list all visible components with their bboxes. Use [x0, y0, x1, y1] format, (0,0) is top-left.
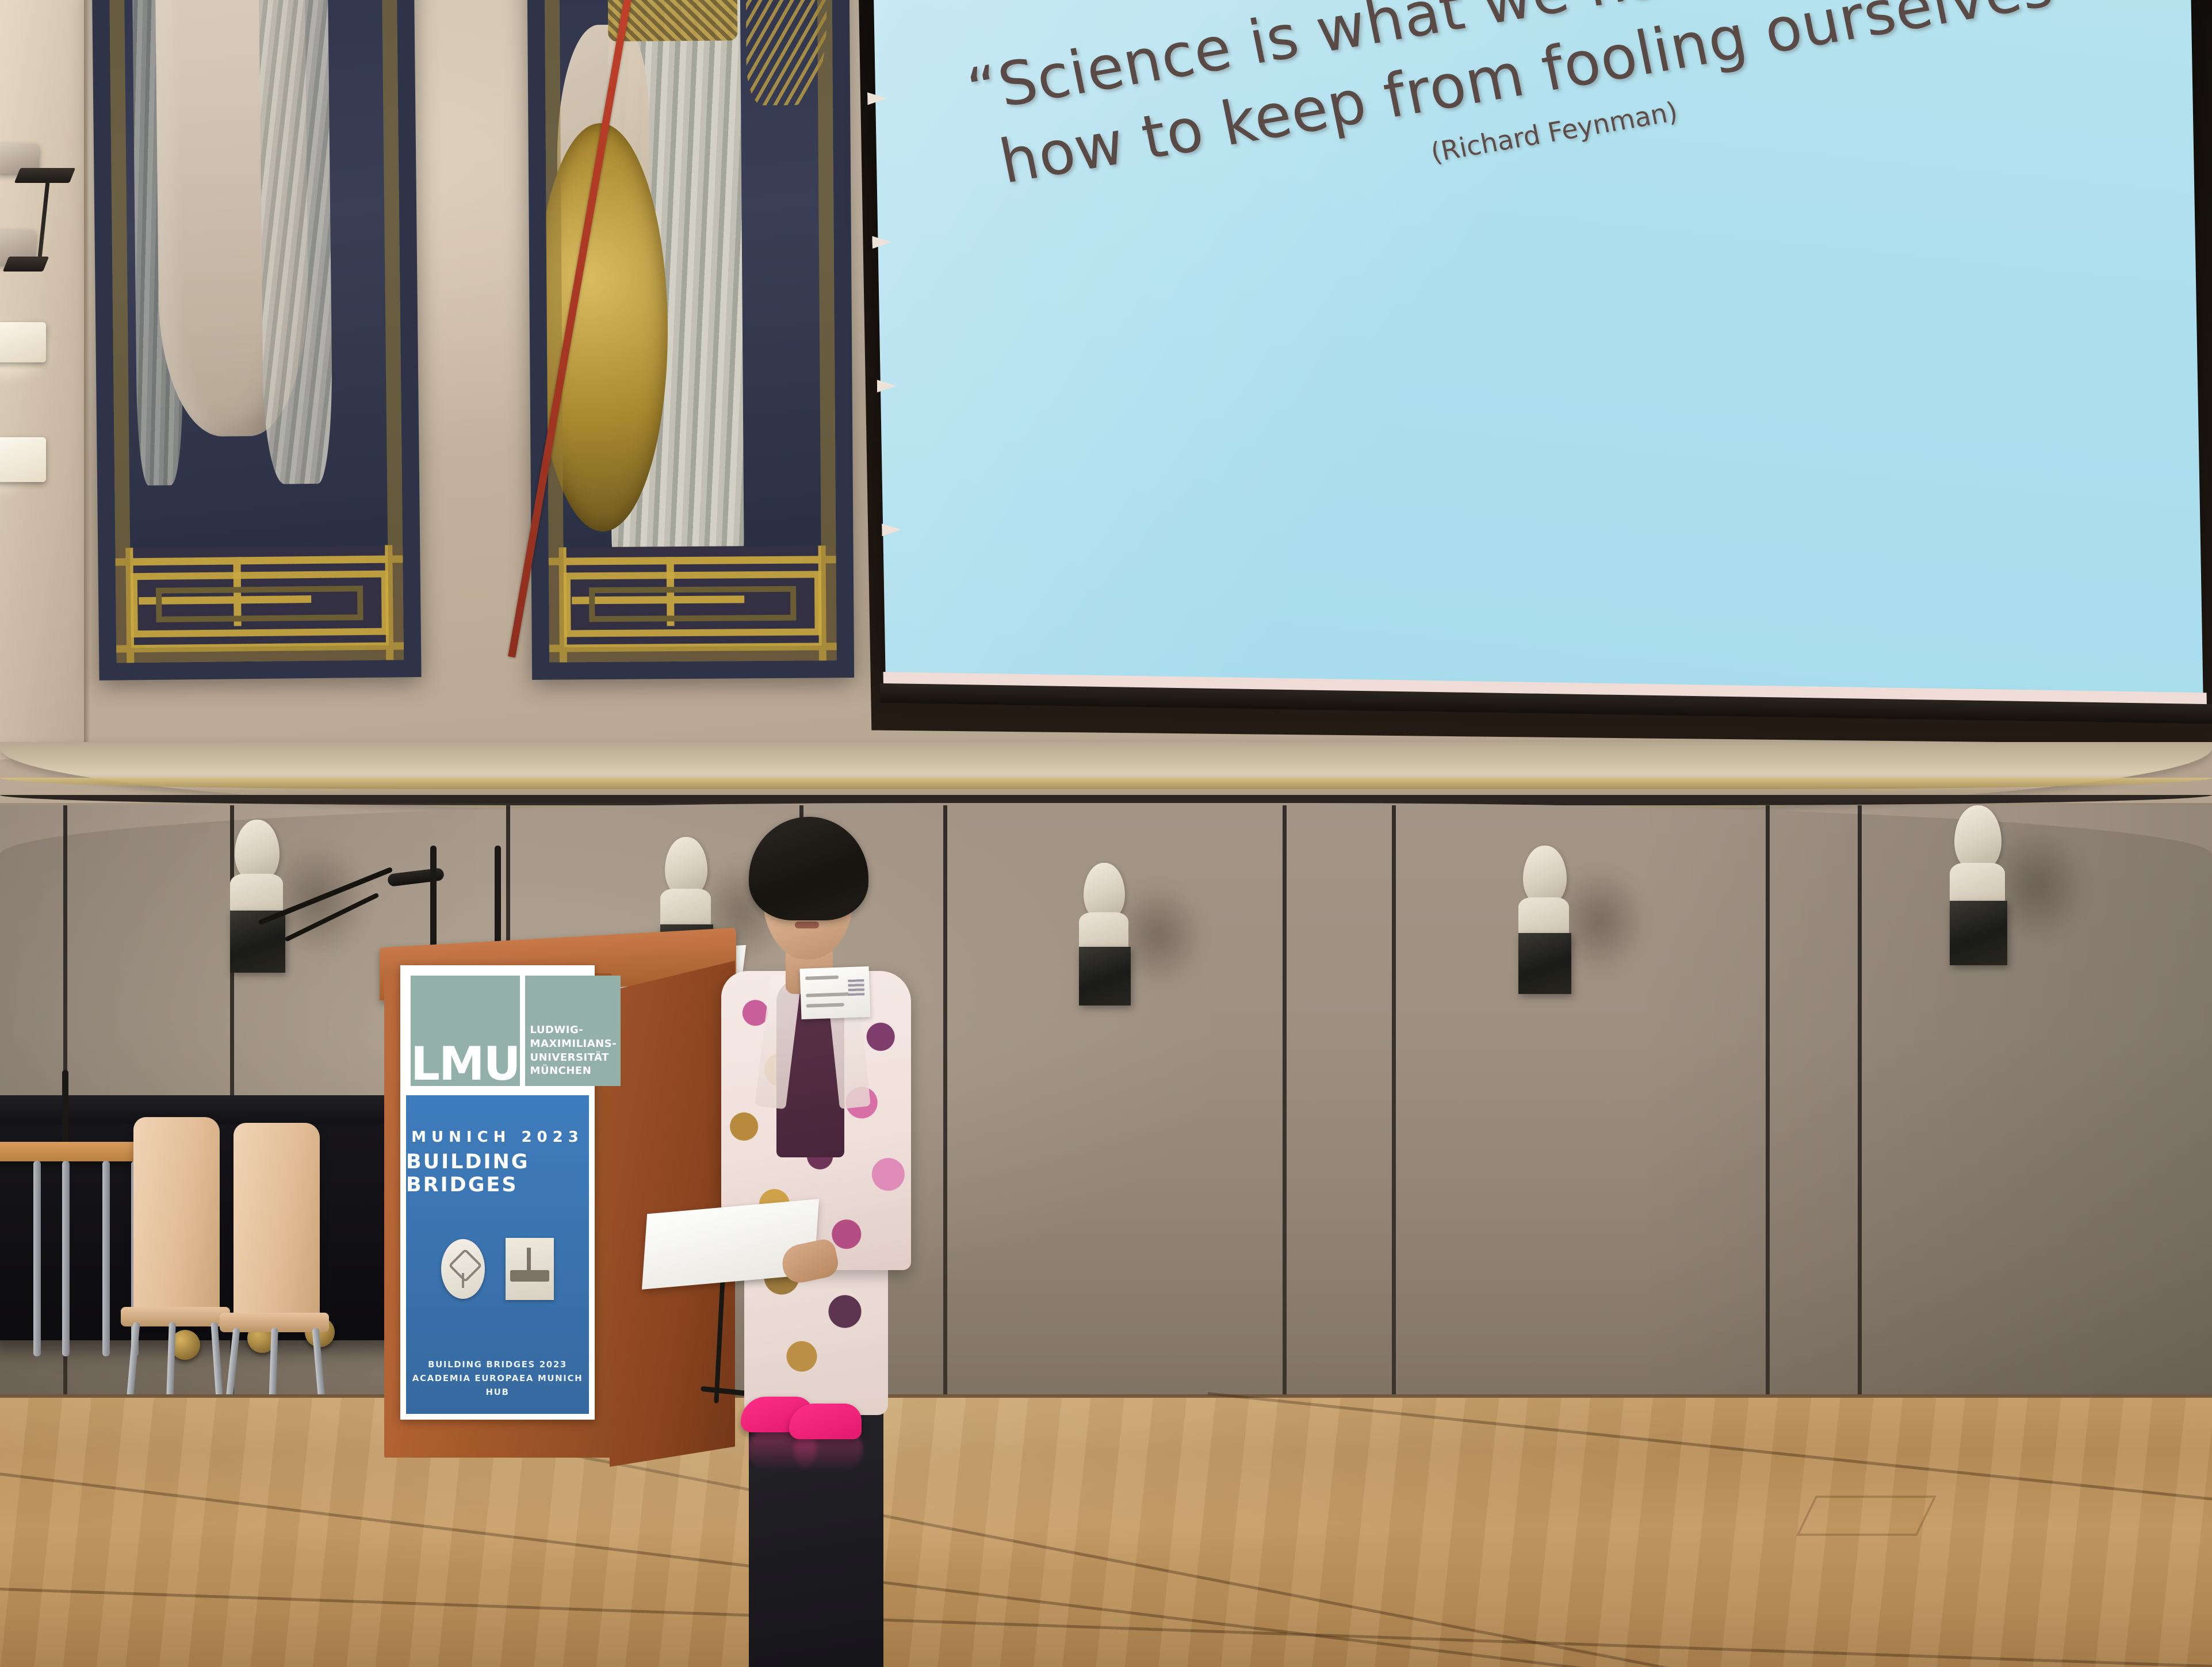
floor-access-hatch — [1796, 1496, 1937, 1536]
podium-mic-pole — [430, 846, 437, 949]
event-logo-row — [441, 1238, 554, 1300]
academia-europaea-logo — [441, 1239, 485, 1299]
table-leg — [102, 1161, 110, 1356]
lmu-mark: LMU — [411, 1045, 520, 1084]
lectern-signboard: LMU LUDWIG- MAXIMILIANS- UNIVERSITÄT MÜN… — [400, 965, 595, 1420]
event-footer-line-1: BUILDING BRIDGES 2023 — [406, 1358, 589, 1371]
speaker-hair — [749, 817, 868, 920]
projection-screen-assembly: “Science is what we have learned about h… — [874, 0, 2212, 736]
badge-qr-code — [848, 979, 864, 996]
wall-panel-seam — [1858, 805, 1862, 1398]
lectern: LMU LUDWIG- MAXIMILIANS- UNIVERSITÄT MÜN… — [380, 938, 736, 1467]
event-footer-line-2: ACADEMIA EUROPAEA MUNICH HUB — [406, 1371, 589, 1399]
lmu-wordmark-line-1: LUDWIG- — [530, 1023, 617, 1037]
mosaic-panel-athena — [526, 0, 854, 680]
floor-seam — [1208, 1392, 2212, 1503]
lmu-wordmark-line-3: UNIVERSITÄT — [530, 1051, 617, 1065]
mosaic-panel-nude-figure — [90, 0, 421, 680]
lmu-logo: LMU LUDWIG- MAXIMILIANS- UNIVERSITÄT MÜN… — [406, 971, 589, 1091]
wall-panel-seam — [1392, 805, 1396, 1398]
wall-panel-seam — [1283, 805, 1287, 1398]
lmu-wordmark-box: LUDWIG- MAXIMILIANS- UNIVERSITÄT MÜNCHEN — [525, 976, 621, 1086]
table-leg — [33, 1161, 41, 1356]
event-banner: MUNICH 2023 BUILDING BRIDGES BUILDING BR… — [406, 1095, 589, 1414]
left-wall-edge — [84, 0, 90, 765]
lmu-wordmark-line-2: MAXIMILIANS- — [530, 1037, 617, 1051]
event-city-year: MUNICH 2023 — [411, 1129, 584, 1146]
speaker-shoe-right — [789, 1404, 862, 1439]
floor-seam — [0, 1588, 2212, 1667]
conference-photo-scene: “Science is what we have learned about h… — [0, 0, 2212, 1667]
munich-hub-logo — [506, 1238, 554, 1300]
speaker-person — [713, 817, 955, 1461]
podium-microphone — [259, 851, 431, 943]
podium-mic-pole — [495, 846, 501, 949]
projection-screen: “Science is what we have learned about h… — [873, 0, 2203, 695]
wall-panel-seam — [1766, 805, 1770, 1398]
lmu-mark-box: LMU — [411, 976, 520, 1086]
event-title: BUILDING BRIDGES — [406, 1150, 589, 1196]
event-footer: BUILDING BRIDGES 2023 ACADEMIA EUROPAEA … — [406, 1358, 589, 1399]
speaker-name-badge — [800, 966, 871, 1019]
table-leg — [62, 1161, 70, 1356]
lmu-wordmark-line-4: MÜNCHEN — [530, 1064, 617, 1078]
speaker-mouth — [795, 922, 819, 928]
cornice-gold-molding — [0, 778, 2212, 789]
